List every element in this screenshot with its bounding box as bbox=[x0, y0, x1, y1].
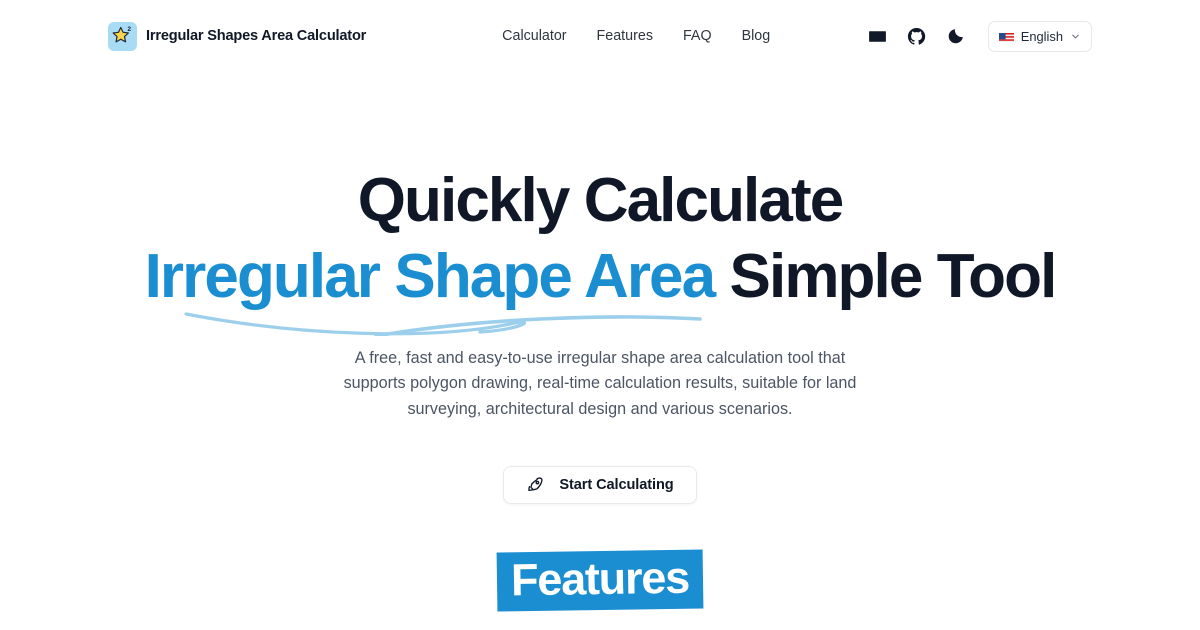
nav-link-calculator[interactable]: Calculator bbox=[502, 28, 566, 44]
features-heading-label: Features bbox=[511, 554, 690, 604]
nav-link-blog[interactable]: Blog bbox=[742, 28, 771, 44]
header-actions: English bbox=[867, 21, 1092, 52]
star-squared-icon: 2 bbox=[108, 22, 137, 51]
nav-link-faq[interactable]: FAQ bbox=[683, 28, 712, 44]
svg-text:2: 2 bbox=[127, 26, 131, 33]
hero-section: Quickly Calculate Irregular Shape Area S… bbox=[0, 72, 1200, 630]
nav-link-features[interactable]: Features bbox=[597, 28, 653, 44]
github-icon[interactable] bbox=[906, 25, 928, 47]
mail-icon[interactable] bbox=[867, 25, 889, 47]
language-label: English bbox=[1021, 29, 1063, 44]
features-heading: Features bbox=[497, 550, 704, 612]
language-selector[interactable]: English bbox=[988, 21, 1092, 52]
moon-icon[interactable] bbox=[945, 25, 967, 47]
hero-title-line2: Irregular Shape Area Simple Tool bbox=[0, 246, 1200, 308]
us-flag-icon bbox=[999, 31, 1014, 42]
features-section: Features bbox=[0, 551, 1200, 630]
start-calculating-label: Start Calculating bbox=[559, 477, 673, 493]
rocket-icon bbox=[526, 476, 544, 494]
brand[interactable]: 2 Irregular Shapes Area Calculator bbox=[108, 22, 366, 51]
hero-title-rest: Simple Tool bbox=[714, 242, 1055, 311]
start-calculating-button[interactable]: Start Calculating bbox=[503, 466, 696, 504]
site-header: 2 Irregular Shapes Area Calculator Calcu… bbox=[0, 0, 1200, 72]
hero-subtitle: A free, fast and easy-to-use irregular s… bbox=[330, 346, 870, 422]
chevron-down-icon bbox=[1070, 31, 1081, 42]
hero-title-line1: Quickly Calculate bbox=[358, 166, 843, 235]
hero-title-highlight: Irregular Shape Area bbox=[145, 242, 715, 311]
page-title: Quickly Calculate Irregular Shape Area S… bbox=[0, 170, 1200, 308]
main-nav: Calculator Features FAQ Blog bbox=[502, 28, 770, 44]
cta-container: Start Calculating bbox=[0, 466, 1200, 504]
brand-title: Irregular Shapes Area Calculator bbox=[146, 28, 366, 44]
